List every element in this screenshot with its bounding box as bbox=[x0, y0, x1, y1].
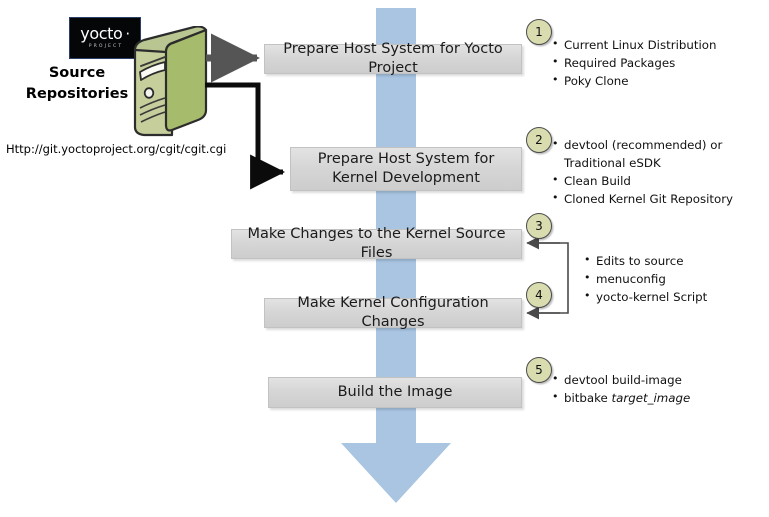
bullet-item: menuconfig bbox=[584, 271, 764, 289]
bullet-list-step-2: devtool (recommended) or Traditional eSD… bbox=[552, 137, 767, 209]
bullet-list-steps-3-4: Edits to source menuconfig yocto-kernel … bbox=[584, 253, 764, 307]
bullet-item: Cloned Kernel Git Repository bbox=[552, 191, 767, 209]
bullet-item: Clean Build bbox=[552, 173, 767, 191]
process-box-make-config-changes[interactable]: Make Kernel Configuration Changes bbox=[264, 298, 522, 328]
bullet-item: Required Packages bbox=[552, 55, 767, 73]
step-number-2: 2 bbox=[526, 127, 552, 153]
bullet-list-step-1: Current Linux Distribution Required Pack… bbox=[552, 37, 767, 91]
bullet-list-step-5: devtool build-image bitbake target_image bbox=[552, 372, 767, 408]
bullet-item: Edits to source bbox=[584, 253, 764, 271]
bullet-item: bitbake target_image bbox=[552, 390, 767, 408]
step-number-1: 1 bbox=[526, 19, 552, 45]
step-number-5: 5 bbox=[526, 357, 552, 383]
process-box-make-source-changes[interactable]: Make Changes to the Kernel Source Files bbox=[231, 229, 522, 259]
bullet-item: yocto-kernel Script bbox=[584, 289, 764, 307]
connector-server-to-step2 bbox=[205, 85, 283, 172]
bullet-text-prefix: bitbake bbox=[564, 391, 612, 405]
diagram-canvas: yocto· PROJECT Source Repositories Http:… bbox=[0, 0, 769, 517]
process-box-prepare-host-kernel[interactable]: Prepare Host System for Kernel Developme… bbox=[290, 147, 522, 191]
process-box-build-image[interactable]: Build the Image bbox=[268, 377, 522, 408]
bullet-item: devtool (recommended) or Traditional eSD… bbox=[552, 137, 767, 173]
process-box-prepare-host-yocto[interactable]: Prepare Host System for Yocto Project bbox=[264, 44, 522, 74]
bullet-item: Poky Clone bbox=[552, 73, 767, 91]
bullet-text-emphasis: target_image bbox=[612, 391, 691, 405]
step-number-4: 4 bbox=[526, 282, 552, 308]
bullet-item: Current Linux Distribution bbox=[552, 37, 767, 55]
bullet-item: devtool build-image bbox=[552, 372, 767, 390]
step-number-3: 3 bbox=[526, 213, 552, 239]
